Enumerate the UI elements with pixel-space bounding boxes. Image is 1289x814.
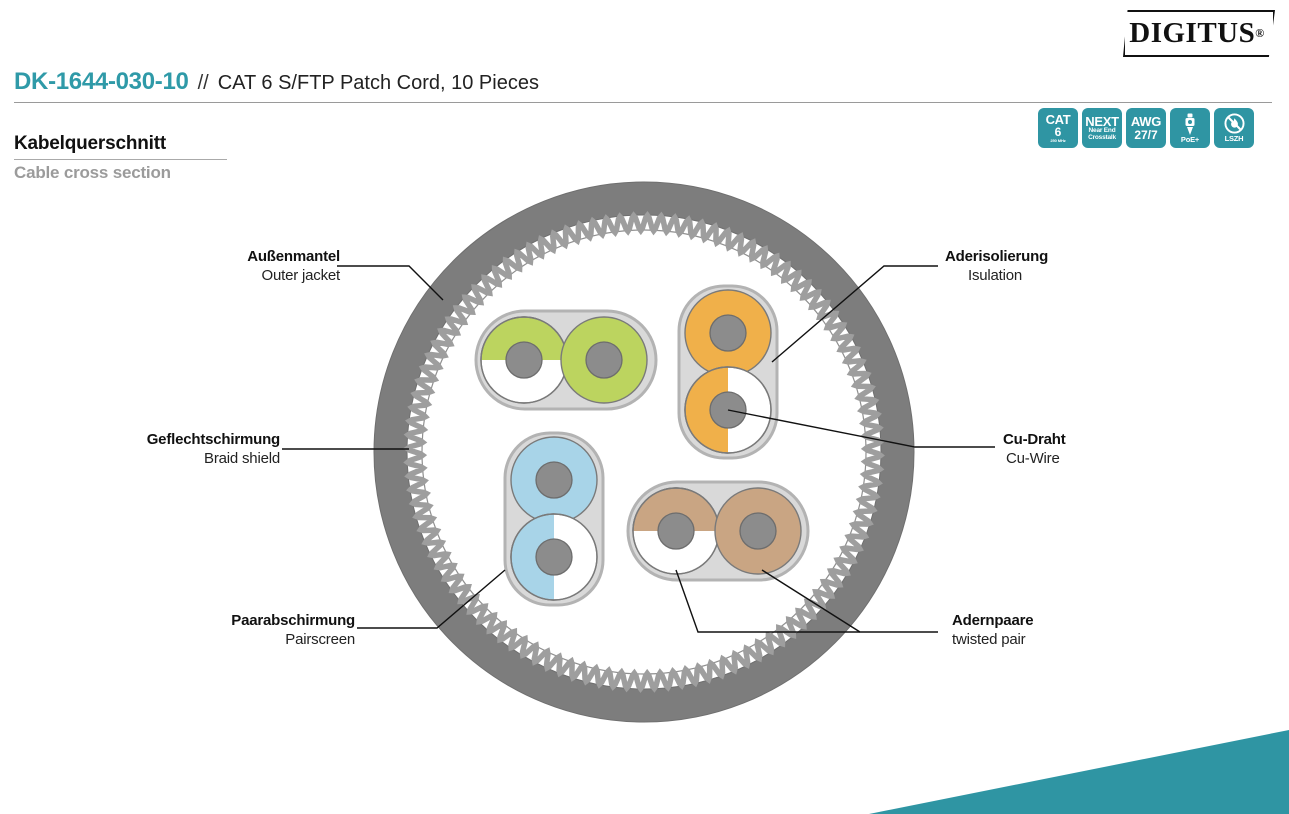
cable-cross-section-diagram bbox=[0, 0, 1289, 814]
orange-pair bbox=[679, 286, 777, 458]
callout-twisted-pair-en: twisted pair bbox=[952, 631, 1182, 648]
blue-wire-striped-conductor bbox=[536, 539, 572, 575]
brown-wire-solid bbox=[715, 488, 801, 574]
blue-wire-striped bbox=[511, 514, 597, 600]
callout-pairscreen-de: Paarabschirmung bbox=[110, 612, 355, 629]
brown-pair bbox=[628, 482, 808, 580]
orange-wire-solid-conductor bbox=[710, 315, 746, 351]
callout-pairscreen-en: Pairscreen bbox=[110, 631, 355, 648]
green-wire-striped-conductor bbox=[506, 342, 542, 378]
brown-wire-striped-conductor bbox=[658, 513, 694, 549]
brown-wire-solid-conductor bbox=[740, 513, 776, 549]
callout-cu-wire-de: Cu-Draht bbox=[1003, 431, 1233, 448]
callout-outer-jacket-en: Outer jacket bbox=[95, 267, 340, 284]
callout-outer-jacket: Außenmantel Outer jacket bbox=[95, 248, 340, 284]
callout-cu-wire-en: Cu-Wire bbox=[1003, 450, 1233, 467]
callout-pairscreen: Paarabschirmung Pairscreen bbox=[110, 612, 355, 648]
orange-wire-solid bbox=[685, 290, 771, 376]
blue-pair bbox=[505, 433, 603, 605]
brown-wire-striped bbox=[633, 488, 719, 574]
callout-insulation-de: Aderisolierung bbox=[945, 248, 1205, 265]
callout-outer-jacket-de: Außenmantel bbox=[95, 248, 340, 265]
callout-braid-shield-de: Geflechtschirmung bbox=[35, 431, 280, 448]
callout-twisted-pair-de: Adernpaare bbox=[952, 612, 1182, 629]
green-wire-solid bbox=[561, 317, 647, 403]
callout-twisted-pair: Adernpaare twisted pair bbox=[952, 612, 1182, 648]
callout-insulation: Aderisolierung Isulation bbox=[945, 248, 1205, 284]
callout-braid-shield-en: Braid shield bbox=[35, 450, 280, 467]
callout-insulation-en: Isulation bbox=[945, 267, 1205, 284]
callout-cu-wire: Cu-Draht Cu-Wire bbox=[1003, 431, 1233, 467]
green-pair bbox=[476, 311, 656, 409]
blue-wire-solid bbox=[511, 437, 597, 523]
callout-braid-shield: Geflechtschirmung Braid shield bbox=[35, 431, 280, 467]
green-wire-striped bbox=[481, 317, 567, 403]
blue-wire-solid-conductor bbox=[536, 462, 572, 498]
green-wire-solid-conductor bbox=[586, 342, 622, 378]
outer-jacket bbox=[374, 182, 914, 722]
